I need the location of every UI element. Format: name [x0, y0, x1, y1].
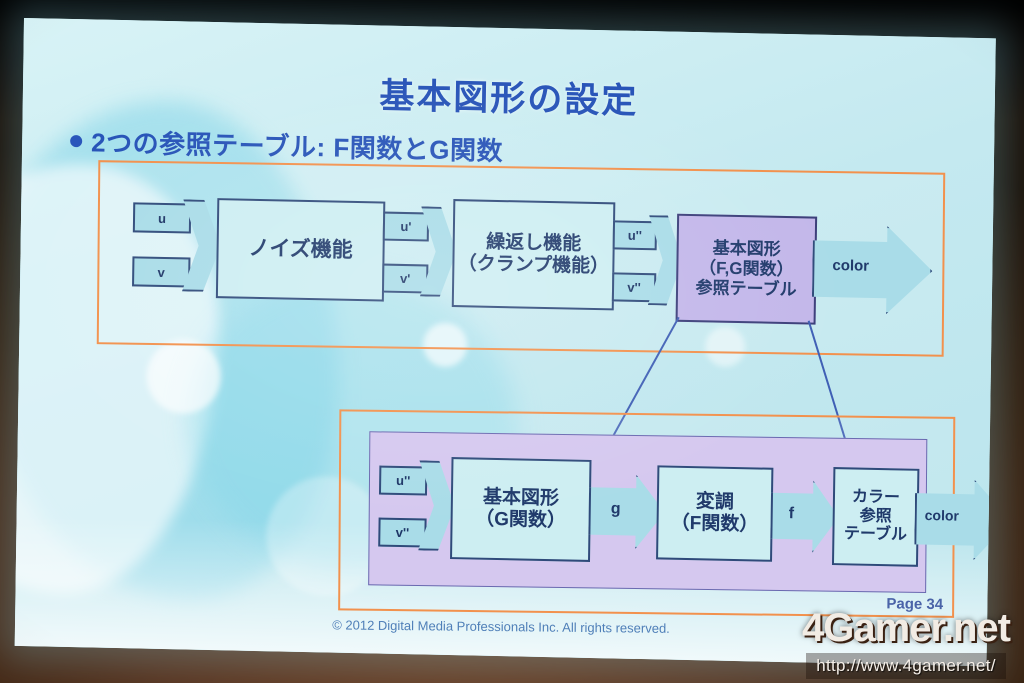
stage-line: 繰返し機能: [486, 232, 581, 256]
stage-line: （F関数）: [671, 513, 759, 537]
stage-line: テーブル: [844, 526, 907, 546]
top-stage-noise: ノイズ機能: [216, 198, 385, 302]
top-stage-repeat: 繰返し機能 （クランプ機能）: [452, 199, 616, 310]
tag-label: u'': [628, 228, 642, 243]
top-input-tag-u: u: [133, 202, 191, 233]
top-mid2-tag-u-dprime: u'': [613, 220, 657, 250]
bottom-input-tag-u-dprime: u'': [379, 466, 427, 496]
watermark-url: http://www.4gamer.net/: [806, 653, 1006, 679]
bottom-stage-color-table: カラー 参照 テーブル: [832, 467, 919, 567]
tag-label: v'': [627, 280, 641, 295]
slide-content: 基本図形の設定 2つの参照テーブル: F関数とG関数 u v ノイズ機能 u': [15, 18, 996, 666]
bullet-dot-icon: [70, 134, 82, 146]
tag-label: v'': [396, 525, 410, 540]
tag-label: u: [158, 210, 166, 225]
stage-line: 基本図形: [483, 487, 559, 511]
tag-label: v: [158, 264, 165, 279]
top-mid2-tag-v-dprime: v'': [612, 272, 656, 302]
bottom-input-tag-v-dprime: v'': [378, 518, 426, 548]
projection-area: 基本図形の設定 2つの参照テーブル: F関数とG関数 u v ノイズ機能 u': [0, 0, 1024, 683]
top-stage-lookup-table: 基本図形 （F,G関数） 参照テーブル: [676, 214, 818, 325]
stage-line: 参照テーブル: [695, 278, 796, 300]
stage-line: （G関数）: [475, 509, 566, 533]
page-title: 基本図形の設定: [23, 60, 996, 131]
tag-label: u'': [396, 473, 410, 488]
stage-line: （クランプ機能）: [458, 253, 610, 278]
tag-label: u': [400, 219, 411, 234]
watermark: 4Gamer.net http://www.4gamer.net/: [794, 608, 1018, 679]
stage-line: （F,G関数）: [699, 258, 794, 280]
bottom-stage-base-shape: 基本図形 （G関数）: [450, 457, 591, 562]
stage-line: ノイズ機能: [248, 237, 353, 264]
watermark-logo: 4Gamer.net: [794, 608, 1018, 648]
stage-line: カラー: [852, 489, 900, 509]
top-input-tag-v: v: [132, 256, 190, 287]
stage-line: 基本図形: [713, 239, 781, 260]
stage-line: 参照: [860, 507, 892, 526]
stage-line: 変調: [696, 491, 734, 514]
tag-label: v': [400, 271, 411, 286]
top-mid1-tag-u-prime: u': [383, 212, 429, 242]
top-mid1-tag-v-prime: v': [382, 264, 428, 294]
bottom-stage-modulation: 変調 （F関数）: [656, 465, 773, 561]
projected-slide: 基本図形の設定 2つの参照テーブル: F関数とG関数 u v ノイズ機能 u': [15, 18, 996, 666]
